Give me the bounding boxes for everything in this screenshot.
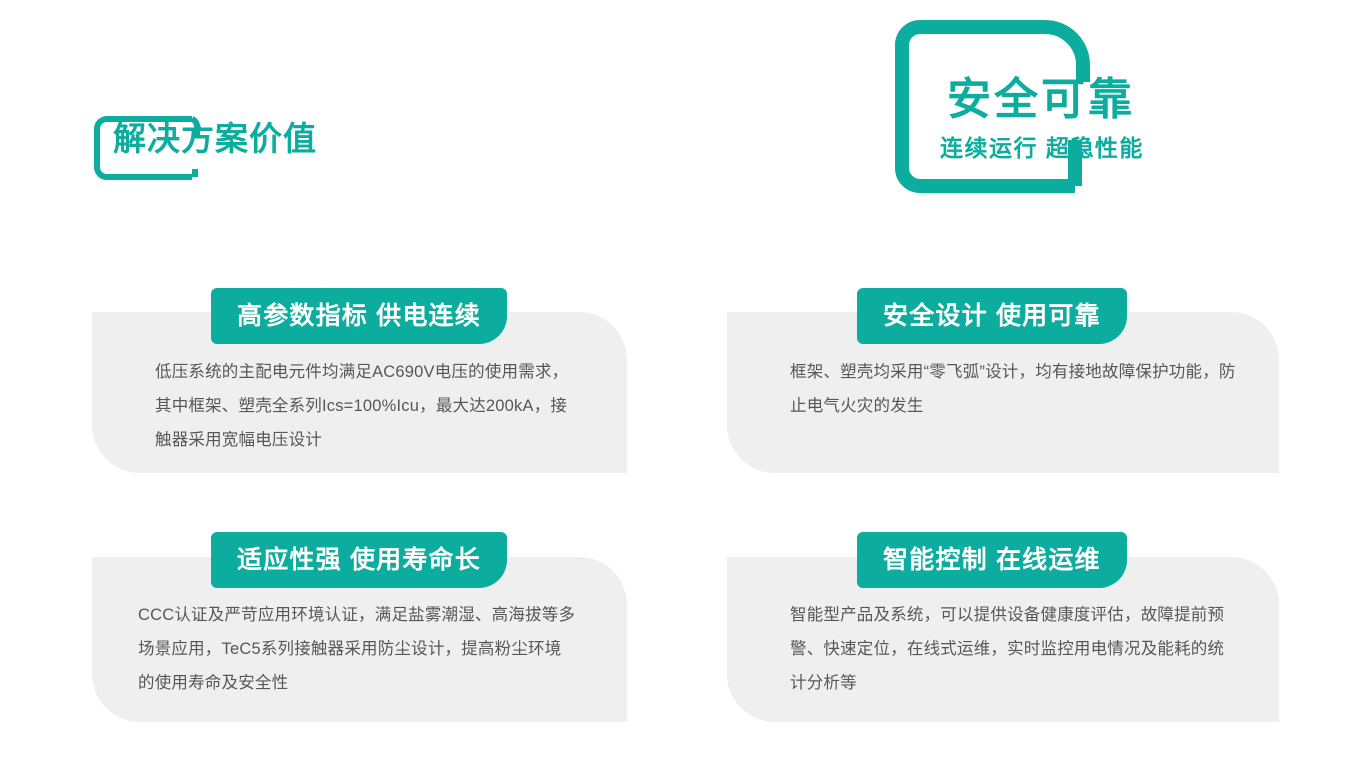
feature-card-1-body: 低压系统的主配电元件均满足AC690V电压的使用需求，其中框架、塑壳全系列Ics… [155, 355, 575, 457]
feature-card-4-body: 智能型产品及系统，可以提供设备健康度评估，故障提前预警、快速定位，在线式运维，实… [790, 598, 1240, 700]
feature-card-4-title: 智能控制 在线运维 [883, 548, 1101, 573]
hero-subtitle: 连续运行 超稳性能 [940, 137, 1144, 160]
feature-card-2-body: 框架、塑壳均采用“零飞弧”设计，均有接地故障保护功能，防止电气火灾的发生 [790, 355, 1240, 423]
feature-card-1-title-pill: 高参数指标 供电连续 [211, 288, 507, 344]
feature-card-1-title: 高参数指标 供电连续 [237, 304, 481, 329]
feature-card-3-title: 适应性强 使用寿命长 [237, 548, 481, 573]
feature-card-2-title: 安全设计 使用可靠 [883, 304, 1101, 329]
feature-card-3-title-pill: 适应性强 使用寿命长 [211, 532, 507, 588]
section-heading: 解决方案价值 [113, 122, 317, 155]
feature-card-4-title-pill: 智能控制 在线运维 [857, 532, 1127, 588]
feature-card-3-body: CCC认证及严苛应用环境认证，满足盐雾潮湿、高海拔等多场景应用，TeC5系列接触… [138, 598, 578, 700]
slide-canvas: 解决方案价值 安全可靠 连续运行 超稳性能 高参数指标 供电连续 低压系统的主配… [0, 0, 1350, 782]
hero-title: 安全可靠 [947, 78, 1135, 122]
feature-card-2-title-pill: 安全设计 使用可靠 [857, 288, 1127, 344]
